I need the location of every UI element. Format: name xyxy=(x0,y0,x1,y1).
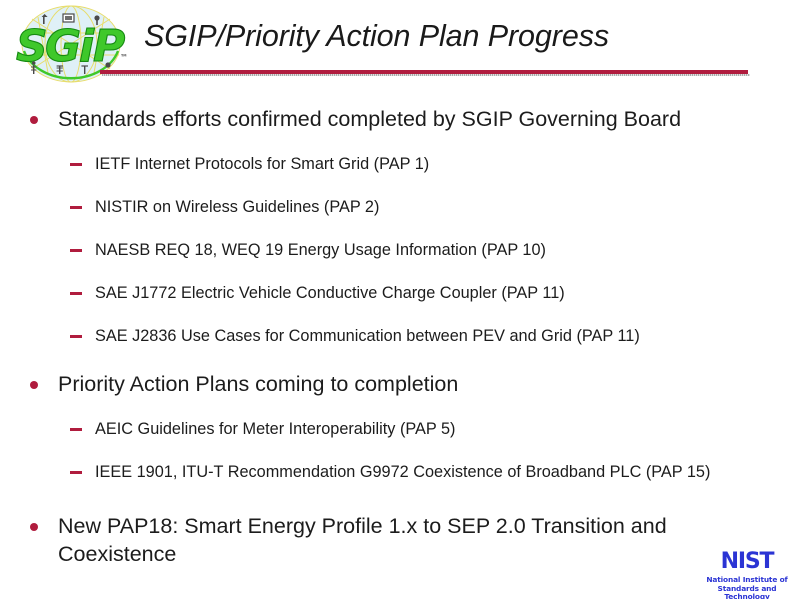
bullet-text: SAE J2836 Use Cases for Communication be… xyxy=(95,327,640,345)
slide-title: SGIP/Priority Action Plan Progress xyxy=(144,17,784,55)
bullet-level1: New PAP18: Smart Energy Profile 1.x to S… xyxy=(0,513,776,568)
bullet-level2: SAE J2836 Use Cases for Communication be… xyxy=(0,326,766,347)
bullet-dot-icon xyxy=(30,116,38,124)
bullet-dash-icon xyxy=(70,471,82,474)
bullet-text: New PAP18: Smart Energy Profile 1.x to S… xyxy=(58,514,667,566)
bullet-dot-icon xyxy=(30,523,38,531)
bullet-dash-icon xyxy=(70,335,82,338)
bullet-text: Priority Action Plans coming to completi… xyxy=(58,372,458,396)
bullet-dash-icon xyxy=(70,428,82,431)
bullet-level1: Standards efforts confirmed completed by… xyxy=(0,106,776,134)
bullet-level2: IETF Internet Protocols for Smart Grid (… xyxy=(0,154,766,175)
slide-canvas: S G i P ™ SGIP/Priority Action Plan Prog… xyxy=(0,0,800,599)
bullet-dash-icon xyxy=(70,163,82,166)
bullet-level2: AEIC Guidelines for Meter Interoperabili… xyxy=(0,419,766,440)
svg-text:™: ™ xyxy=(120,53,128,62)
bullet-dot-icon xyxy=(30,381,38,389)
bullet-level1: Priority Action Plans coming to completi… xyxy=(0,371,776,399)
bullet-dash-icon xyxy=(70,249,82,252)
bullet-level2: NISTIR on Wireless Guidelines (PAP 2) xyxy=(0,197,766,218)
slide-header: S G i P ™ SGIP/Priority Action Plan Prog… xyxy=(0,0,800,92)
nist-wordmark: NIST xyxy=(699,551,795,573)
bullet-text: IEEE 1901, ITU-T Recommendation G9972 Co… xyxy=(95,463,710,481)
bullet-text: Standards efforts confirmed completed by… xyxy=(58,107,681,131)
nist-logo: NIST National Institute of Standards and… xyxy=(699,551,795,593)
slide-body: Standards efforts confirmed completed by… xyxy=(0,98,800,568)
bullet-text: SAE J1772 Electric Vehicle Conductive Ch… xyxy=(95,284,565,302)
bullet-level2: SAE J1772 Electric Vehicle Conductive Ch… xyxy=(0,283,766,304)
bullet-text: AEIC Guidelines for Meter Interoperabili… xyxy=(95,420,455,438)
bullet-level2: NAESB REQ 18, WEQ 19 Energy Usage Inform… xyxy=(0,240,766,261)
bullet-dash-icon xyxy=(70,292,82,295)
bullet-dash-icon xyxy=(70,206,82,209)
bullet-level2: IEEE 1901, ITU-T Recommendation G9972 Co… xyxy=(0,462,766,483)
bullet-text: IETF Internet Protocols for Smart Grid (… xyxy=(95,155,429,173)
svg-text:G: G xyxy=(45,21,81,72)
bullet-text: NISTIR on Wireless Guidelines (PAP 2) xyxy=(95,198,379,216)
title-divider-shadow xyxy=(102,74,750,76)
bullet-text: NAESB REQ 18, WEQ 19 Energy Usage Inform… xyxy=(95,241,546,259)
nist-subtitle-line2: Standards and Technology xyxy=(699,585,795,599)
svg-text:S: S xyxy=(16,21,48,72)
svg-text:P: P xyxy=(93,21,125,72)
